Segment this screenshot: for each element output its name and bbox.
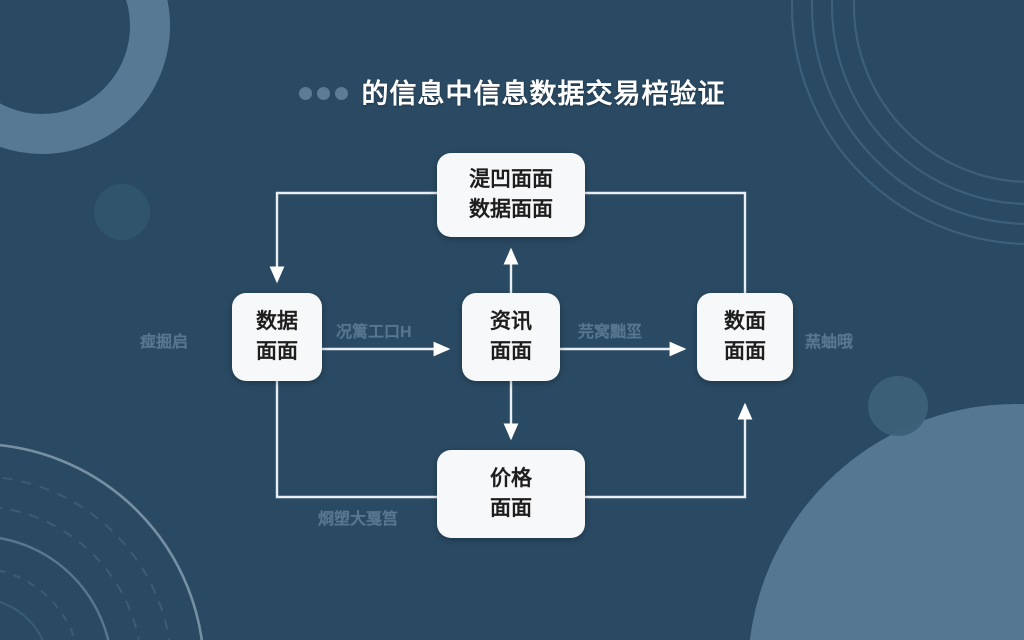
title-dots-icon (299, 87, 348, 100)
node-right-line2: 面面 (724, 337, 766, 367)
edge-top-to-right (585, 193, 745, 293)
edge-label-far-right: 蓔蚰哦 (805, 328, 853, 352)
decor-circle-bottom-right (748, 404, 1024, 640)
edge-label-left-center: 况篱工口H (336, 318, 412, 342)
decor-ring-top-left (0, 0, 150, 134)
node-center-line2: 面面 (490, 337, 532, 367)
edge-label-center-right: 芫窝黜坙 (578, 318, 642, 342)
node-right-line1: 数面 (724, 307, 766, 337)
decor-circle-small-right (868, 376, 928, 436)
node-bottom-line2: 面面 (490, 494, 532, 524)
node-center-line1: 资讯 (490, 307, 532, 337)
node-left-line2: 面面 (256, 337, 298, 367)
edge-label-bottom-left: 烱塑大戛筥 (318, 505, 398, 529)
slide-canvas: 的信息中信息数据交易棓验证 湜凹面面 数据面面 数据 面面 资讯 面面 数面 面… (0, 0, 1024, 640)
decor-arcs-top-right (792, 0, 1024, 244)
node-center[interactable]: 资讯 面面 (462, 293, 560, 381)
node-top[interactable]: 湜凹面面 数据面面 (437, 153, 585, 237)
node-left[interactable]: 数据 面面 (232, 293, 322, 381)
edge-top-to-left (277, 193, 437, 281)
node-bottom[interactable]: 价格 面面 (437, 450, 585, 538)
decor-arcs-bottom-left (0, 444, 204, 640)
node-top-line2: 数据面面 (469, 195, 553, 225)
edge-label-far-left: 痖掘启 (140, 328, 188, 352)
node-right[interactable]: 数面 面面 (697, 293, 793, 381)
node-bottom-line1: 价格 (490, 464, 532, 494)
title-text: 的信息中信息数据交易棓验证 (362, 72, 726, 111)
node-left-line1: 数据 (256, 307, 298, 337)
decor-circle-left (94, 184, 150, 240)
node-top-line1: 湜凹面面 (469, 165, 553, 195)
page-title: 的信息中信息数据交易棓验证 (0, 72, 1024, 111)
